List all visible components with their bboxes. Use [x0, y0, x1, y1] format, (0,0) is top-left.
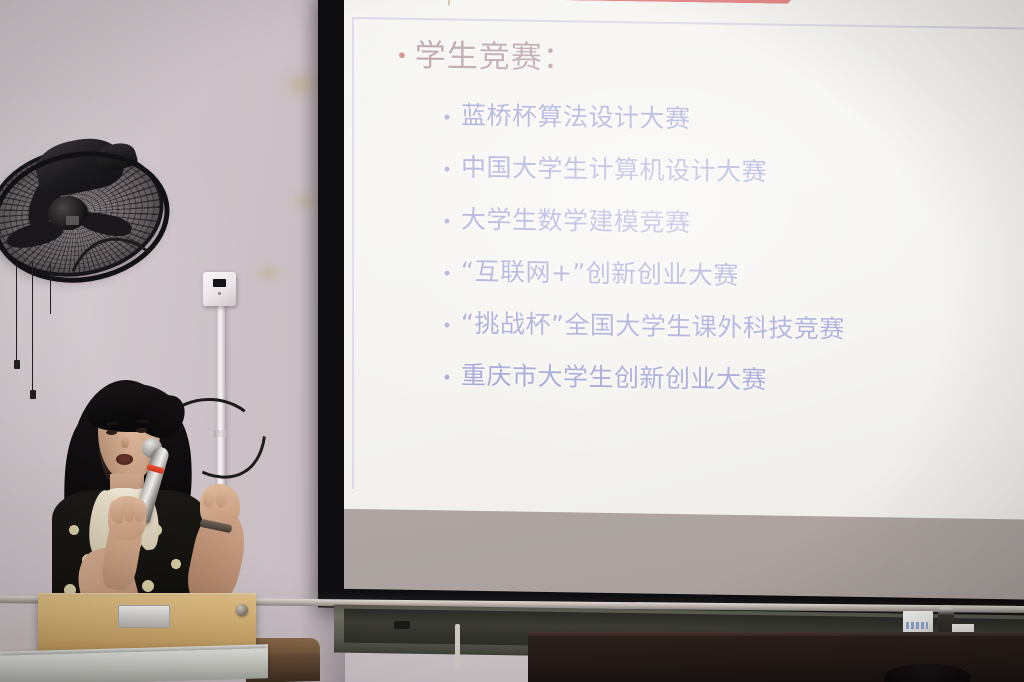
rail-clip — [394, 621, 410, 629]
list-item: • 中国大学生计算机设计大赛 — [442, 147, 845, 205]
bullet-dot-icon: • — [442, 212, 452, 232]
eyebrow-right — [136, 420, 149, 424]
nose — [121, 436, 129, 448]
projected-slide: •学生竞赛： • 蓝桥杯算法设计大赛 • 中国大学生计算机设计大赛 • 大学生数… — [344, 0, 1024, 520]
list-item-label: “挑战杯”全国大学生课外科技竞赛 — [461, 304, 845, 346]
fan-badge — [66, 216, 79, 225]
lecture-hall-scene: •学生竞赛： • 蓝桥杯算法设计大赛 • 中国大学生计算机设计大赛 • 大学生数… — [0, 0, 1024, 682]
rail-clip — [455, 624, 460, 668]
slide-bullet-list: • 蓝桥杯算法设计大赛 • 中国大学生计算机设计大赛 • 大学生数学建模竞赛 •… — [442, 95, 845, 413]
fan-pull-cord-knob[interactable] — [30, 390, 36, 399]
podium-handle-plate[interactable] — [118, 605, 170, 628]
list-item: • “互联网+”创新创业大赛 — [458, 252, 845, 310]
eye-right — [136, 428, 147, 433]
slide-heading: •学生竞赛： — [396, 30, 575, 78]
list-item-label: 大学生数学建模竞赛 — [461, 200, 691, 240]
outlet-screw — [218, 292, 221, 295]
fan-pull-cord[interactable] — [50, 264, 51, 314]
podium-knob[interactable] — [236, 604, 248, 616]
heading-text: 学生竞赛： — [415, 38, 575, 77]
slide-title-tick — [448, 0, 450, 5]
wall-stain — [292, 76, 314, 92]
fan-pull-cord[interactable] — [32, 262, 33, 392]
fan-pull-cord-knob[interactable] — [14, 360, 20, 369]
slide-title-band — [438, 0, 818, 4]
projection-screen-surface: •学生竞赛： • 蓝桥杯算法设计大赛 • 中国大学生计算机设计大赛 • 大学生数… — [344, 0, 1024, 600]
list-item: • 重庆市大学生创新创业大赛 — [442, 355, 845, 413]
bullet-dot-icon: • — [442, 264, 452, 284]
outlet-socket-icon — [213, 279, 226, 287]
bullet-dot-icon: • — [442, 316, 452, 336]
wall-stain — [298, 196, 316, 208]
heading-bullet-icon: • — [396, 44, 409, 68]
wall-stain — [262, 268, 276, 279]
tissue-box-label — [906, 622, 928, 629]
bullet-dot-icon: • — [442, 160, 452, 180]
mouth — [116, 454, 133, 465]
list-item-label: 中国大学生计算机设计大赛 — [461, 148, 767, 189]
bullet-dot-icon: • — [442, 368, 452, 388]
list-item: • 大学生数学建模竞赛 — [442, 199, 845, 257]
list-item-label: 蓝桥杯算法设计大赛 — [461, 96, 691, 136]
list-item: • 蓝桥杯算法设计大赛 — [442, 95, 845, 153]
wall-power-outlet[interactable] — [203, 272, 236, 306]
list-item-label: “互联网+”创新创业大赛 — [461, 252, 739, 292]
eye-left — [106, 430, 117, 435]
presenter — [44, 370, 264, 610]
list-item-label: 重庆市大学生创新创业大赛 — [461, 356, 767, 397]
fan-pull-cord[interactable] — [16, 262, 17, 362]
bullet-dot-icon: • — [442, 108, 452, 128]
list-item: • “挑战杯”全国大学生课外科技竞赛 — [458, 304, 845, 362]
projection-screen-frame: •学生竞赛： • 蓝桥杯算法设计大赛 • 中国大学生计算机设计大赛 • 大学生数… — [318, 0, 1024, 615]
